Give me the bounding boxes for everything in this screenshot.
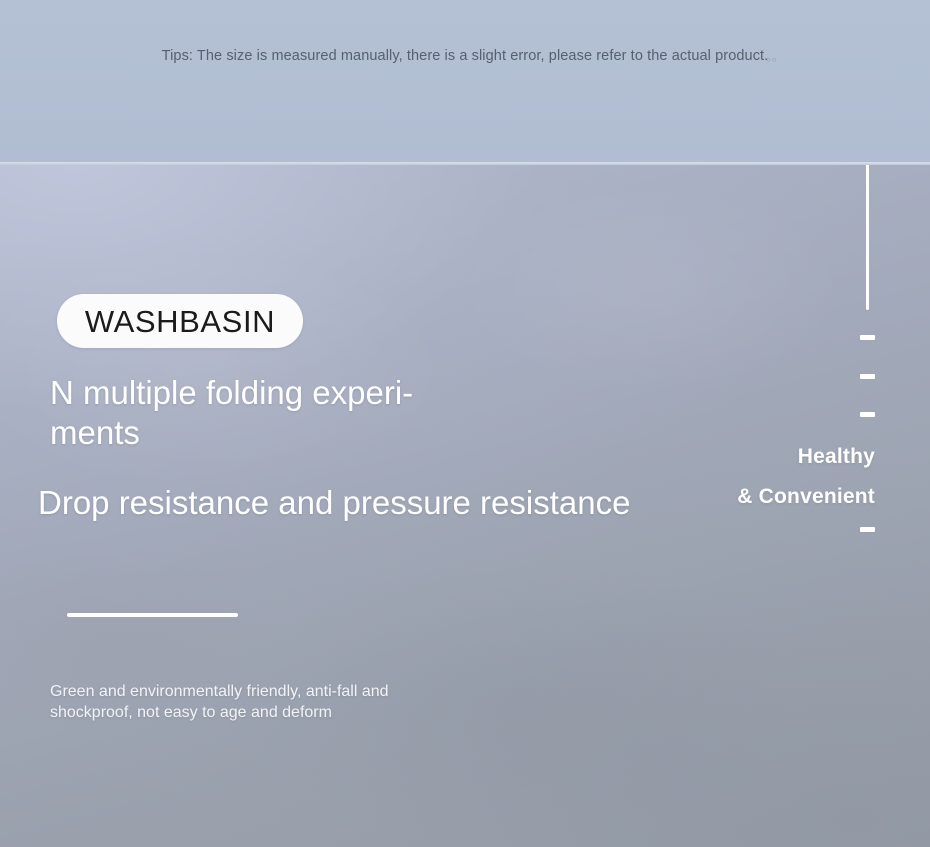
rail-dash-3 xyxy=(860,412,875,417)
rail-vertical-line xyxy=(866,165,869,310)
tips-watermark: °° xyxy=(766,55,777,70)
hero-headline-primary: N multiple folding experi- ments xyxy=(50,373,450,453)
rail-tagline-line-2: & Convenient xyxy=(575,477,875,517)
rail-dash-4 xyxy=(860,527,875,532)
rail-tagline-line-1: Healthy xyxy=(575,437,875,477)
rail-dash-2 xyxy=(860,374,875,379)
hero-section: WASHBASIN N multiple folding experi- men… xyxy=(0,165,930,847)
tips-band: Tips: The size is measured manually, the… xyxy=(0,0,930,165)
washbasin-badge-label: WASHBASIN xyxy=(85,306,275,337)
rail-dash-1 xyxy=(860,335,875,340)
washbasin-badge: WASHBASIN xyxy=(57,294,303,348)
hero-divider-rule xyxy=(67,613,238,617)
rail-tagline: Healthy & Convenient xyxy=(575,437,875,517)
product-detail-poster: Tips: The size is measured manually, the… xyxy=(0,0,930,847)
tips-text: Tips: The size is measured manually, the… xyxy=(0,45,930,67)
hero-body-copy: Green and environmentally friendly, anti… xyxy=(50,681,520,723)
